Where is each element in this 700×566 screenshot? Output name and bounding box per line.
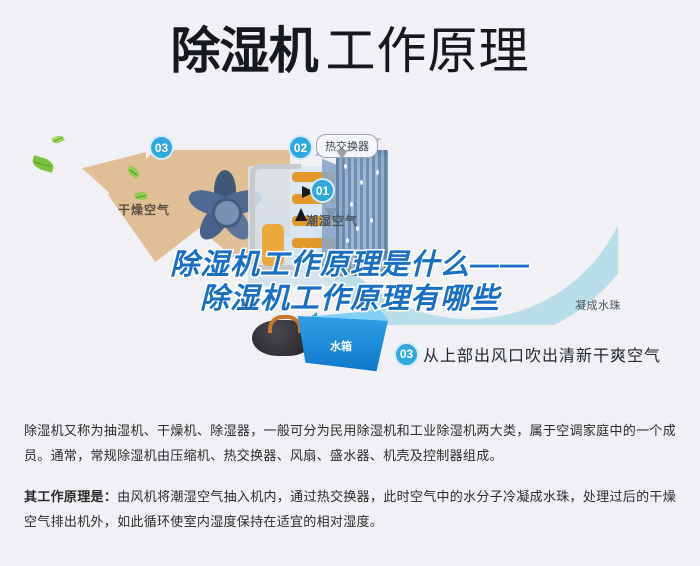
callout-pointer-icon [336,150,348,159]
page-title: 除湿机工作原理 [0,22,700,80]
water-tank-label: 水箱 [330,338,352,354]
article-paragraph-2-lead: 其工作原理是： [24,489,117,504]
title-secondary: 工作原理 [326,23,530,79]
step-badge-02: 02 [290,137,311,158]
article-page: 除湿机工作原理 干燥空气 [0,0,700,566]
overlay-headline: 除湿机工作原理是什么—— 除湿机工作原理有哪些 [0,248,700,316]
article-body: 除湿机又称为抽湿机、干燥机、除湿器，一般可分为民用除湿机和工业除湿机两大类，属于… [24,418,676,550]
humid-air-label: 潮湿空气 [306,212,358,229]
caption-text: 从上部出风口吹出清新干爽空气 [423,342,661,366]
leaf-icon [31,155,55,173]
overlay-line-1: 除湿机工作原理是什么—— [0,248,700,282]
dry-air-label: 干燥空气 [118,201,170,218]
step-badge-01: 01 [312,180,333,201]
caption-badge-03: 03 [396,344,417,365]
step-3-caption: 03 从上部出风口吹出清新干爽空气 [396,342,661,366]
article-paragraph-1: 除湿机又称为抽湿机、干燥机、除湿器，一般可分为民用除湿机和工业除湿机两大类，属于… [24,418,676,468]
article-paragraph-2: 其工作原理是：由风机将潮湿空气抽入机内，通过热交换器，此时空气中的水分子冷凝成水… [24,484,676,534]
article-paragraph-2-rest: 由风机将潮湿空气抽入机内，通过热交换器，此时空气中的水分子冷凝成水珠，处理过后的… [24,489,676,529]
leaf-icon [51,134,65,145]
overlay-line-2: 除湿机工作原理有哪些 [0,282,700,316]
step-badge-03: 03 [151,137,172,158]
title-primary: 除湿机 [171,23,318,79]
